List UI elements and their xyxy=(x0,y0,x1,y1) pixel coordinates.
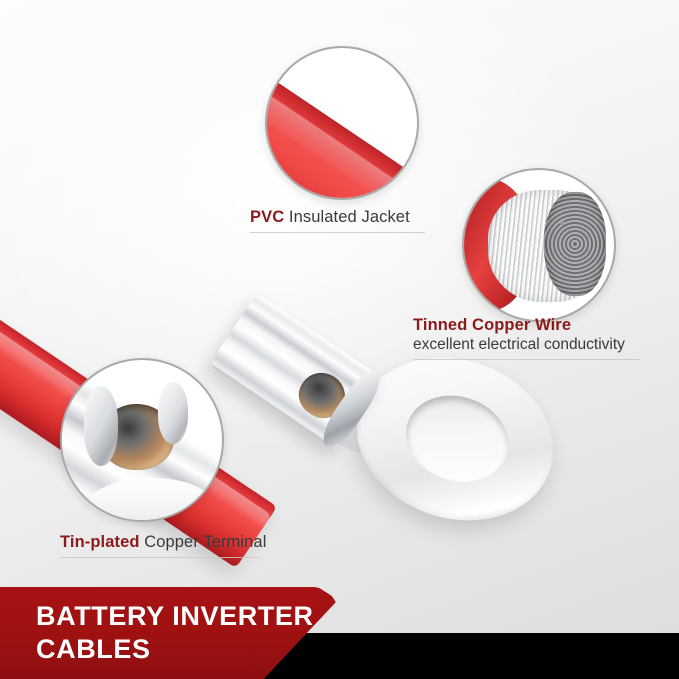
callout-pvc-rest: Insulated Jacket xyxy=(284,208,410,226)
callout-tin-plated-terminal: Tin-plated Copper Terminal xyxy=(60,532,266,558)
banner-title-line1: BATTERY INVERTER xyxy=(36,601,314,631)
terminal-bolt-hole xyxy=(395,383,520,495)
callout-tinned-copper-wire: Tinned Copper Wire excellent electrical … xyxy=(413,315,641,360)
callout-pvc-underline xyxy=(250,232,425,233)
callout-pvc-title: PVC Insulated Jacket xyxy=(250,207,425,227)
callout-terminal-underline xyxy=(60,557,260,558)
ring-terminal-eyelet xyxy=(335,333,574,545)
callout-pvc-highlight: PVC xyxy=(250,208,284,226)
terminal-crimp-magnifier xyxy=(60,358,224,522)
banner-title-line2: CABLES xyxy=(36,633,314,666)
callout-terminal-title: Tin-plated Copper Terminal xyxy=(60,532,266,552)
banner-title: BATTERY INVERTER CABLES xyxy=(36,600,314,666)
magnified-crimp-wing-right xyxy=(158,382,188,444)
magnified-red-jacket xyxy=(265,68,419,200)
callout-wire-subtitle: excellent electrical conductivity xyxy=(413,335,641,354)
magnified-jacket-highlight xyxy=(265,81,419,200)
magnified-crimp-wing-left xyxy=(84,386,118,466)
callout-wire-highlight: Tinned Copper Wire xyxy=(413,316,571,334)
callout-wire-underline xyxy=(413,359,641,360)
callout-terminal-rest: Copper Terminal xyxy=(140,533,267,551)
pvc-jacket-magnifier xyxy=(265,46,419,200)
copper-strands-magnifier xyxy=(462,168,616,322)
product-infographic: PVC Insulated Jacket Tinned Copper Wire … xyxy=(0,0,679,679)
callout-pvc: PVC Insulated Jacket xyxy=(250,207,425,233)
magnified-strand-bundle-end xyxy=(544,192,606,296)
callout-terminal-highlight: Tin-plated xyxy=(60,533,140,551)
callout-wire-title: Tinned Copper Wire xyxy=(413,315,641,335)
